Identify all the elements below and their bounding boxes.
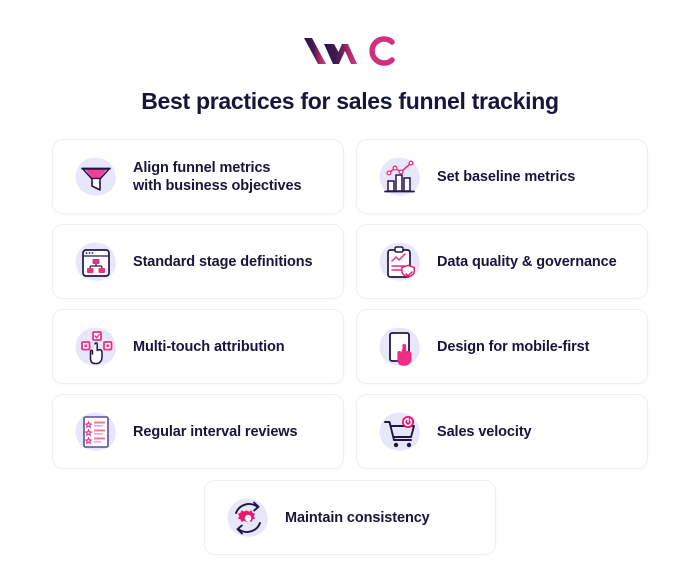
card-label: Design for mobile-first <box>429 338 589 356</box>
bar-chart-line-icon <box>371 148 429 206</box>
card-label: Data quality & governance <box>429 253 617 271</box>
hand-pointer-checkboxes-icon <box>67 318 125 376</box>
card-set-baseline-metrics[interactable]: Set baseline metrics <box>356 139 648 214</box>
clipboard-shield-check-icon <box>371 233 429 291</box>
bottom-card-row: Maintain consistency <box>0 480 700 555</box>
card-maintain-consistency[interactable]: Maintain consistency <box>204 480 496 555</box>
funnel-icon <box>67 148 125 206</box>
sitemap-window-icon <box>67 233 125 291</box>
shopping-cart-badge-icon <box>371 403 429 461</box>
card-label: Regular interval reviews <box>125 423 297 441</box>
card-label: Maintain consistency <box>277 509 430 527</box>
card-regular-interval-reviews[interactable]: Regular interval reviews <box>52 394 344 469</box>
page-title: Best practices for sales funnel tracking <box>0 86 700 116</box>
card-label: Multi-touch attribution <box>125 338 285 356</box>
mobile-tap-icon <box>371 318 429 376</box>
infographic-page: Best practices for sales funnel tracking… <box>0 0 700 580</box>
card-sales-velocity[interactable]: Sales velocity <box>356 394 648 469</box>
gear-refresh-icon <box>219 489 277 547</box>
review-document-stars-icon <box>67 403 125 461</box>
card-label: Standard stage definitions <box>125 253 312 271</box>
vwo-logo-mark <box>302 30 398 72</box>
card-standard-stage-definitions[interactable]: Standard stage definitions <box>52 224 344 299</box>
card-data-quality-governance[interactable]: Data quality & governance <box>356 224 648 299</box>
card-align-funnel-metrics[interactable]: Align funnel metrics with business objec… <box>52 139 344 214</box>
card-design-for-mobile-first[interactable]: Design for mobile-first <box>356 309 648 384</box>
card-label-line2: with business objectives <box>133 178 301 194</box>
vwo-logo <box>0 28 700 74</box>
card-label: Set baseline metrics <box>429 168 575 186</box>
card-multi-touch-attribution[interactable]: Multi-touch attribution <box>52 309 344 384</box>
card-label: Align funnel metrics with business objec… <box>125 159 301 195</box>
card-label-line1: Align funnel metrics <box>133 160 270 176</box>
card-label: Sales velocity <box>429 423 532 441</box>
best-practices-grid: Align funnel metrics with business objec… <box>52 139 648 469</box>
